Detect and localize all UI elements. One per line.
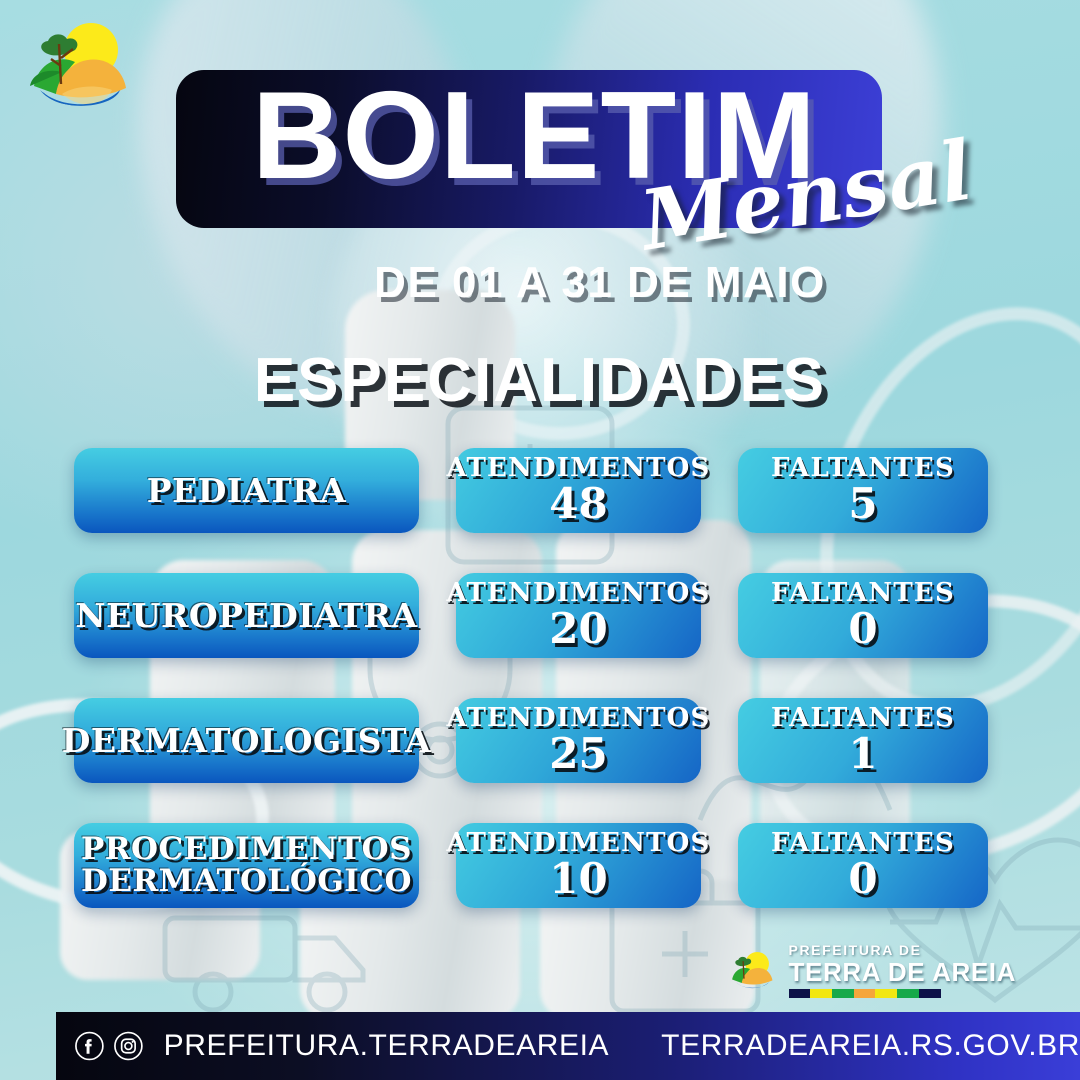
website-url[interactable]: TERRADEAREIA.RS.GOV.BR bbox=[661, 1029, 1080, 1063]
table-row: DERMATOLOGISTA ATENDIMENTOS 25 FALTANTES… bbox=[74, 698, 1006, 783]
brand-name: TERRA DE AREIA bbox=[789, 959, 1016, 985]
specialty-pill: PEDIATRA bbox=[74, 448, 419, 533]
table-row: NEUROPEDIATRA ATENDIMENTOS 20 FALTANTES … bbox=[74, 573, 1006, 658]
attendance-value: 20 bbox=[549, 608, 607, 651]
missing-pill: FALTANTES 5 bbox=[738, 448, 988, 533]
specialty-label: DERMATOLOGISTA bbox=[62, 724, 432, 758]
specialty-label: NEUROPEDIATRA bbox=[75, 599, 417, 633]
attendance-value: 48 bbox=[549, 483, 607, 526]
missing-pill: FALTANTES 0 bbox=[738, 573, 988, 658]
table-row: PROCEDIMENTOS DERMATOLÓGICO ATENDIMENTOS… bbox=[74, 823, 1006, 908]
attendance-value: 10 bbox=[549, 858, 607, 901]
brand-emblem-icon bbox=[722, 948, 780, 994]
specialty-pill: NEUROPEDIATRA bbox=[74, 573, 419, 658]
attendance-pill: ATENDIMENTOS 25 bbox=[456, 698, 701, 783]
attendance-value: 25 bbox=[549, 733, 607, 776]
table-row: PEDIATRA ATENDIMENTOS 48 FALTANTES 5 bbox=[74, 448, 1006, 533]
poster-root: BOLETIM Mensal DE 01 A 31 DE MAIO ESPECI… bbox=[0, 0, 1080, 1080]
missing-pill: FALTANTES 0 bbox=[738, 823, 988, 908]
brand-prefix: PREFEITURA DE bbox=[789, 943, 1016, 957]
specialties-table: PEDIATRA ATENDIMENTOS 48 FALTANTES 5 NEU… bbox=[74, 448, 1006, 948]
attendance-pill: ATENDIMENTOS 20 bbox=[456, 573, 701, 658]
municipal-logo-icon bbox=[18, 14, 136, 119]
attendance-pill: ATENDIMENTOS 48 bbox=[456, 448, 701, 533]
missing-value: 0 bbox=[848, 858, 877, 901]
date-range-label: DE 01 A 31 DE MAIO bbox=[0, 258, 1080, 308]
brand-logo: PREFEITURA DE TERRA DE AREIA bbox=[722, 943, 1016, 998]
section-heading: ESPECIALIDADES bbox=[0, 345, 1080, 416]
specialty-pill: DERMATOLOGISTA bbox=[74, 698, 419, 783]
facebook-icon[interactable] bbox=[74, 1024, 105, 1068]
specialty-label: PEDIATRA bbox=[147, 474, 346, 508]
missing-value: 0 bbox=[848, 608, 877, 651]
specialty-label-line2: DERMATOLÓGICO bbox=[81, 866, 412, 898]
attendance-pill: ATENDIMENTOS 10 bbox=[456, 823, 701, 908]
brand-stripes bbox=[789, 989, 941, 998]
missing-pill: FALTANTES 1 bbox=[738, 698, 988, 783]
missing-value: 1 bbox=[848, 733, 877, 776]
specialty-pill: PROCEDIMENTOS DERMATOLÓGICO bbox=[74, 823, 419, 908]
instagram-icon[interactable] bbox=[113, 1024, 144, 1068]
footer-bar: PREFEITURA.TERRADEAREIA TERRADEAREIA.RS.… bbox=[56, 1012, 1080, 1080]
specialty-label: PROCEDIMENTOS bbox=[81, 834, 412, 866]
social-handle[interactable]: PREFEITURA.TERRADEAREIA bbox=[164, 1029, 610, 1063]
missing-value: 5 bbox=[848, 483, 877, 526]
